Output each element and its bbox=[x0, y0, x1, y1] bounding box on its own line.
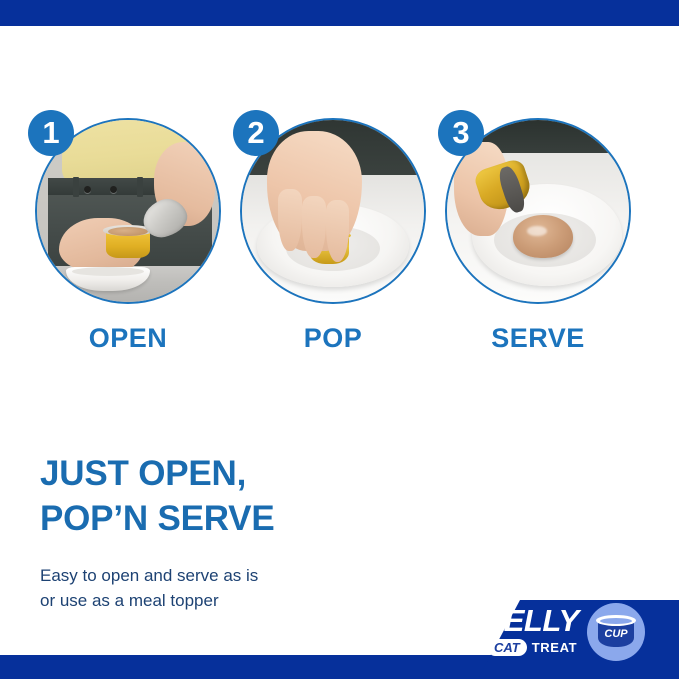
step-3: 3 SERVE bbox=[438, 110, 638, 370]
step-1: 1 OPEN bbox=[28, 110, 228, 370]
subtext-line-1: Easy to open and serve as is bbox=[40, 566, 258, 585]
belt-loop bbox=[137, 177, 143, 197]
cup-badge-label: CUP bbox=[596, 628, 636, 640]
cup-badge: CUP bbox=[587, 603, 645, 661]
brand-category: CAT TREAT bbox=[487, 638, 577, 657]
step-2-number-badge: 2 bbox=[233, 110, 279, 156]
headline: JUST OPEN, POP’N SERVE bbox=[40, 452, 460, 542]
brand-name: JELLY bbox=[487, 605, 579, 636]
cup-icon-rim-inner bbox=[600, 618, 632, 624]
step-2-caption: POP bbox=[233, 323, 433, 354]
product-feature-banner: 1 OPEN 2 POP bbox=[0, 0, 679, 679]
brand-category-cat: CAT bbox=[487, 639, 527, 656]
step-3-caption: SERVE bbox=[438, 323, 638, 354]
subtext-line-2: or use as a meal topper bbox=[40, 588, 460, 613]
belt-stud bbox=[84, 186, 91, 193]
step-2: 2 POP bbox=[233, 110, 433, 370]
top-brand-bar bbox=[0, 0, 679, 26]
headline-line-2: POP’N SERVE bbox=[40, 497, 460, 542]
belt-stud bbox=[110, 186, 117, 193]
belt-loop bbox=[73, 177, 79, 197]
brand-logo: JELLY CAT TREAT CUP bbox=[487, 605, 679, 665]
hand-finger bbox=[278, 189, 302, 251]
white-bowl-well bbox=[72, 267, 145, 276]
headline-line-1: JUST OPEN, bbox=[40, 454, 246, 493]
step-1-caption: OPEN bbox=[28, 323, 228, 354]
step-1-number-badge: 1 bbox=[28, 110, 74, 156]
hand-finger bbox=[302, 196, 326, 258]
step-3-number-badge: 3 bbox=[438, 110, 484, 156]
cup-icon: CUP bbox=[596, 615, 636, 648]
steps-row: 1 OPEN 2 POP bbox=[0, 110, 679, 370]
brand-category-treat: TREAT bbox=[532, 641, 577, 654]
subtext: Easy to open and serve as is or use as a… bbox=[40, 563, 460, 613]
jelly-treat bbox=[513, 215, 573, 259]
